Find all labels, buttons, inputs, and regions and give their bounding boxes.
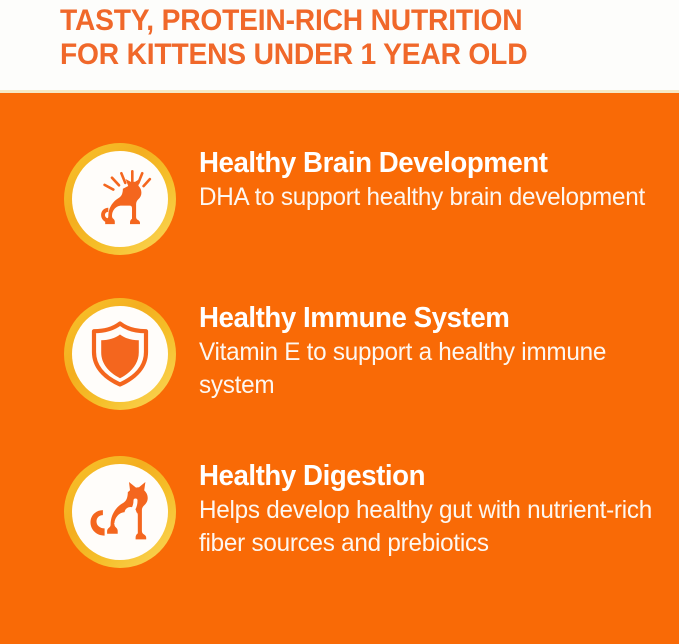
feature-item-digestion: Healthy Digestion Helps develop healthy …: [0, 456, 679, 568]
icon-badge: [64, 143, 176, 255]
shield-icon: [72, 306, 168, 402]
feature-title: Healthy Immune System: [199, 302, 655, 335]
cat-digestion-icon: [72, 464, 168, 560]
feature-title: Healthy Brain Development: [199, 147, 655, 180]
page-title-line-2: FOR KITTENS UNDER 1 YEAR OLD: [60, 38, 624, 72]
feature-item-brain: Healthy Brain Development DHA to support…: [0, 143, 679, 255]
feature-item-immune: Healthy Immune System Vitamin E to suppo…: [0, 298, 679, 410]
feature-description: DHA to support healthy brain development: [199, 181, 655, 214]
feature-text: Healthy Brain Development DHA to support…: [199, 143, 669, 214]
feature-title: Healthy Digestion: [199, 460, 655, 493]
feature-text: Healthy Digestion Helps develop healthy …: [199, 456, 669, 560]
page-title-line-1: TASTY, PROTEIN-RICH NUTRITION: [60, 4, 624, 38]
icon-badge: [64, 298, 176, 410]
infographic-panel: TASTY, PROTEIN-RICH NUTRITION FOR KITTEN…: [0, 0, 679, 644]
header-divider-rule: [0, 90, 679, 93]
icon-badge: [64, 456, 176, 568]
feature-text: Healthy Immune System Vitamin E to suppo…: [199, 298, 669, 402]
feature-description: Vitamin E to support a healthy immune sy…: [199, 336, 655, 402]
cat-brain-icon: [72, 151, 168, 247]
page-title: TASTY, PROTEIN-RICH NUTRITION FOR KITTEN…: [60, 4, 624, 72]
feature-description: Helps develop healthy gut with nutrient-…: [199, 494, 655, 560]
